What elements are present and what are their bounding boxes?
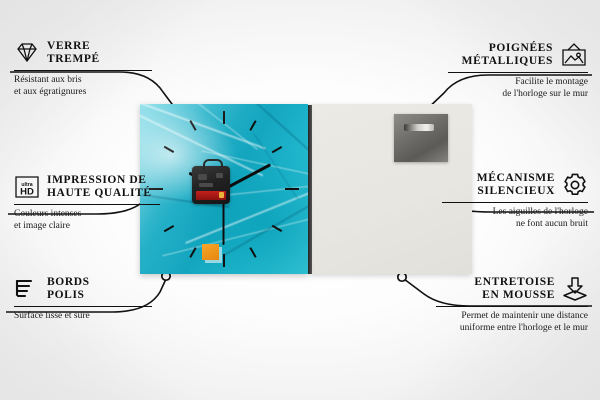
product-image [140,104,472,276]
metal-hanger-plate [394,114,448,162]
callout-title-line1: POIGNÉES [462,42,553,55]
callout-sub-line1: Surface lisse et sûre [14,311,164,323]
callout-title-line2: SILENCIEUX [477,185,555,198]
infographic-canvas: VERRE TREMPÉ Résistant aux bris et aux é… [0,0,600,400]
callout-sub-line2: et aux égratignures [14,87,164,99]
callout-title-line2: MÉTALLIQUES [462,55,553,68]
callout-impression-haute-qualite: ultra HD IMPRESSION DE HAUTE QUALITÉ Cou… [14,174,174,232]
mechanism-hanger-loop [203,159,223,170]
callout-title-line1: VERRE [47,40,100,53]
callout-sub-line2: ne font aucun bruit [430,219,588,231]
foam-spacer-arrow-icon [562,276,588,302]
diamond-icon [14,42,40,64]
polished-edges-icon [14,278,40,300]
callout-sub-line2: uniforme entre l'horloge et le mur [424,323,588,335]
callout-sub-line1: Facilite le montage [436,77,588,89]
gear-icon [562,172,588,198]
quartz-mechanism-box [192,166,230,204]
callout-poignees-metalliques: POIGNÉES MÉTALLIQUES Facilite le montage… [436,42,588,100]
foam-spacer [202,244,219,260]
callout-verre-trempe: VERRE TREMPÉ Résistant aux bris et aux é… [14,40,164,98]
callout-title-line1: IMPRESSION DE [47,174,152,187]
callout-sub-line1: Les aiguilles de l'horloge [430,207,588,219]
callout-sub-line1: Couleurs intenses [14,209,174,221]
callout-title-line2: POLIS [47,289,90,302]
callout-title-line2: EN MOUSSE [474,289,555,302]
ultra-hd-icon: ultra HD [14,175,40,199]
callout-entretoise-en-mousse: ENTRETOISE EN MOUSSE Permet de maintenir… [424,276,588,334]
ultra-hd-icon-main-text: HD [20,187,34,198]
picture-frame-hanger-icon [560,43,588,67]
callout-title-line1: MÉCANISME [477,172,555,185]
callout-title-line1: BORDS [47,276,90,289]
hanger-slot [404,124,434,131]
callout-bords-polis: BORDS POLIS Surface lisse et sûre [14,276,164,323]
callout-title-line2: TREMPÉ [47,53,100,66]
battery [196,191,226,200]
callout-sub-line2: et image claire [14,221,174,233]
callout-sub-line2: de l'horloge sur le mur [436,89,588,101]
callout-sub-line1: Résistant aux bris [14,75,164,87]
callout-sub-line1: Permet de maintenir une distance [424,311,588,323]
callout-title-line1: ENTRETOISE [474,276,555,289]
callout-title-line2: HAUTE QUALITÉ [47,187,152,200]
callout-mecanisme-silencieux: MÉCANISME SILENCIEUX Les aiguilles de l'… [430,172,588,230]
